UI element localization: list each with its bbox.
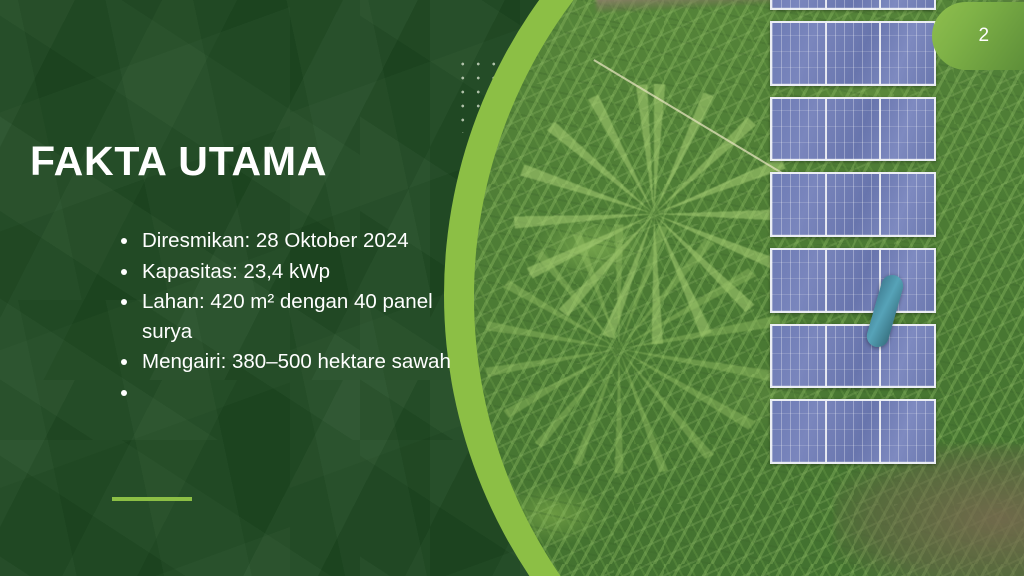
aerial-photo-image [474,0,1024,576]
accent-underline [112,497,192,501]
list-item: Lahan: 420 m² dengan 40 panel surya [120,287,480,346]
slide: 2 FAKTA UTAMA Diresmikan: 28 Oktober 202… [0,0,1024,576]
page-title: FAKTA UTAMA [30,140,327,183]
page-number-badge: 2 [932,2,1024,70]
list-item: Diresmikan: 28 Oktober 2024 [120,226,480,256]
list-item-empty [120,378,480,404]
list-item: Mengairi: 380–500 hektare sawah [120,347,480,377]
fact-list: Diresmikan: 28 Oktober 2024 Kapasitas: 2… [106,226,480,405]
page-number-label: 2 [978,25,989,47]
list-item: Kapasitas: 23,4 kWp [120,257,480,287]
photo-softening-layer [474,0,1024,576]
aerial-photo-circle [474,0,1024,576]
